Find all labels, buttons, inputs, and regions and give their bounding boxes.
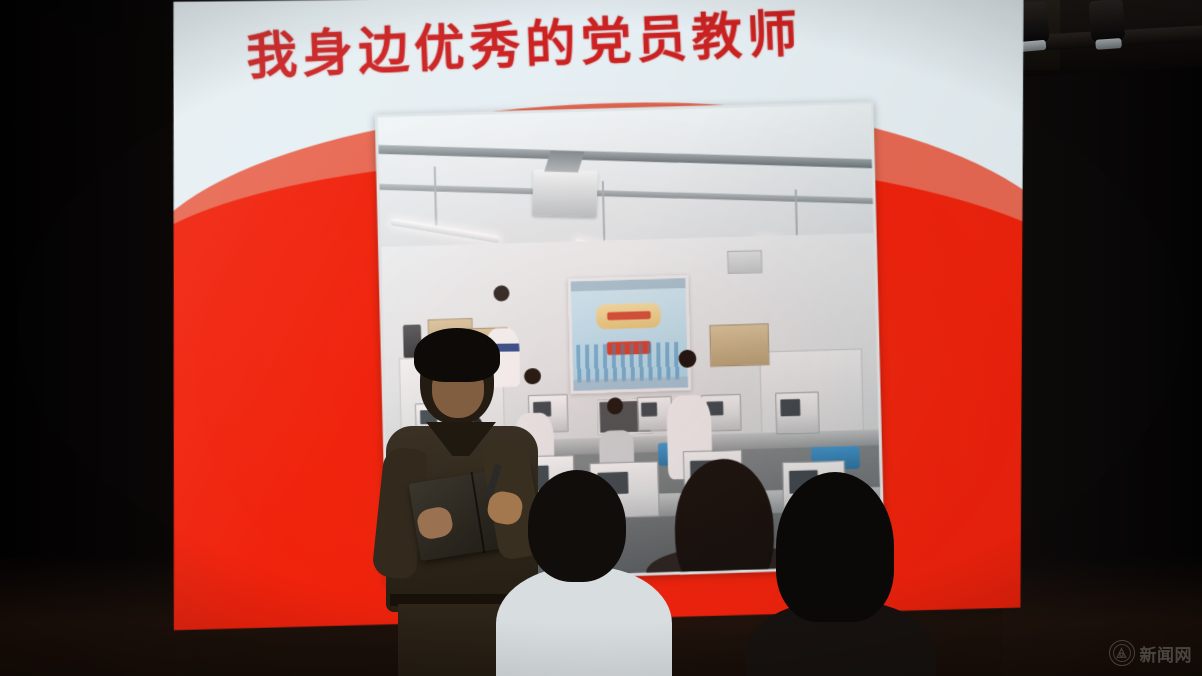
watermark: 新闻网: [1109, 640, 1193, 666]
photo-wall-panel: [727, 250, 762, 274]
photo-instrument: [774, 392, 819, 435]
presenter-hair: [414, 328, 500, 382]
photo-carton: [709, 324, 769, 367]
photo-slide-banner: [596, 303, 661, 329]
university-seal-icon: [1109, 640, 1135, 666]
photo-ceiling-projector: [532, 170, 597, 218]
audience-member-right: [752, 472, 928, 676]
slide-title: 我身边优秀的党员教师: [245, 2, 913, 87]
stage-spotlight: [1089, 0, 1126, 43]
audience-member-left: [506, 470, 656, 676]
photograph-scene: 我身边优秀的党员教师: [0, 0, 1202, 676]
watermark-text: 新闻网: [1140, 641, 1193, 666]
